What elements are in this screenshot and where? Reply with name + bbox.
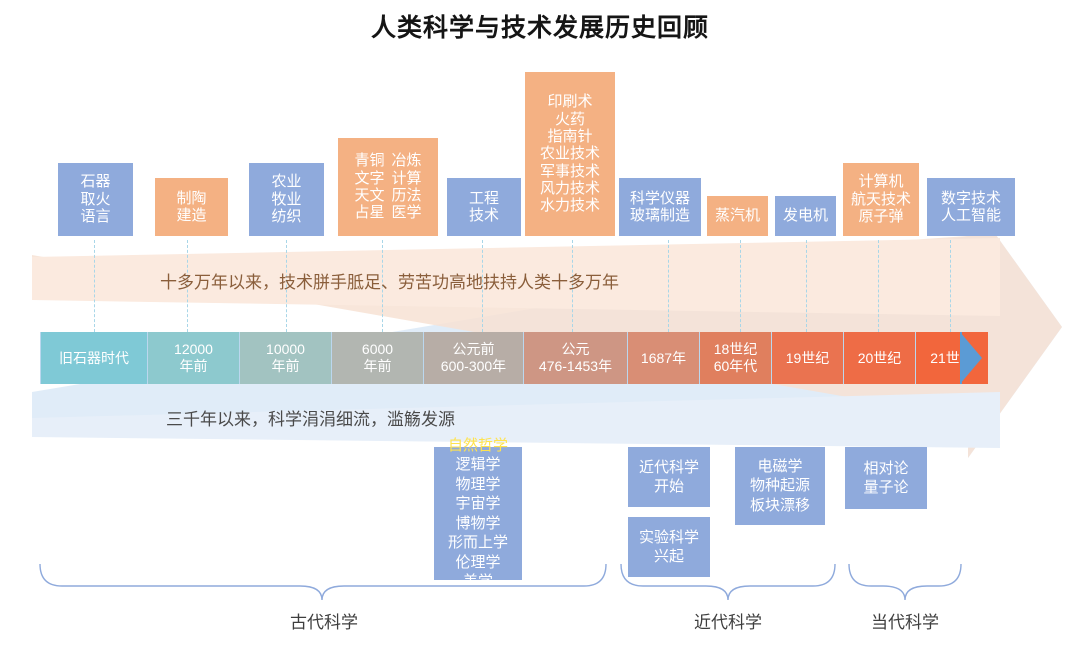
science-line: 宇宙学 (455, 494, 500, 514)
timeline-cell-line: 旧石器时代 (59, 350, 129, 367)
tech-box-generator[interactable]: 发电机 (775, 196, 836, 236)
timeline-cell-2[interactable]: 10000 年前 (240, 332, 332, 384)
timeline-cell-3[interactable]: 6000 年前 (332, 332, 424, 384)
technology-banner-text: 十多万年以来，技术胼手胝足、劳苦功高地扶持人类十多万年 (160, 268, 619, 293)
bracket-ancient-science (40, 564, 606, 600)
timeline-cell-line: 12000 (174, 341, 213, 358)
timeline-cell-9[interactable]: 20世纪 (844, 332, 916, 384)
bracket-contemporary-science (849, 564, 961, 600)
bracket-label-modern-science: 近代科学 (660, 608, 796, 633)
science-line: 实验科学 (639, 528, 699, 548)
science-line: 博物学 (455, 514, 500, 534)
diagram-canvas: 人类科学与技术发展历史回顾 石器 取火 语言 制陶 建造 农业 牧业 纺织 青铜 (0, 0, 1080, 655)
timeline-cell-line: 6000 (362, 341, 393, 358)
bracket-label-contemporary-science: 当代科学 (837, 608, 973, 633)
tech-line: 占星 (354, 204, 384, 221)
tech-box-computer-space[interactable]: 计算机 航天技术 原子弹 (843, 163, 919, 236)
tech-box-steam-engine[interactable]: 蒸汽机 (707, 196, 768, 236)
connector-dash-10 (878, 240, 879, 332)
timeline-cell-line: 20世纪 (858, 350, 902, 367)
tech-line: 数字技术 (941, 190, 1001, 207)
tech-line: 人工智能 (941, 207, 1001, 224)
tech-line: 石器 (80, 173, 110, 190)
tech-box-stone-tools[interactable]: 石器 取火 语言 (58, 163, 133, 236)
science-line: 近代科学 (639, 458, 699, 478)
tech-line: 原子弹 (858, 208, 903, 225)
timeline-cell-7[interactable]: 18世纪 60年代 (700, 332, 772, 384)
timeline-cell-line: 19世纪 (786, 350, 830, 367)
timeline-cell-0[interactable]: 旧石器时代 (40, 332, 148, 384)
bracket-modern-science (621, 564, 835, 600)
science-box-natural-philosophy[interactable]: 自然哲学 逻辑学 物理学 宇宙学 博物学 形而上学 伦理学 美学 (434, 447, 522, 580)
timeline-cell-line: 年前 (364, 358, 392, 375)
timeline-cell-5[interactable]: 公元 476-1453年 (524, 332, 628, 384)
timeline-cell-line: 476-1453年 (539, 358, 612, 375)
tech-line: 印刷术 (547, 93, 592, 110)
tech-box-pottery[interactable]: 制陶 建造 (155, 178, 228, 236)
science-line: 相对论 (863, 459, 908, 479)
tech-box-instruments[interactable]: 科学仪器 玻璃制造 (619, 178, 701, 236)
connector-dash-1 (94, 240, 95, 332)
science-line: 物理学 (455, 475, 500, 495)
connector-dash-11 (950, 240, 951, 332)
tech-line: 水力技术 (540, 197, 600, 214)
tech-line: 取火 (80, 191, 110, 208)
timeline-cell-line: 18世纪 (714, 341, 758, 358)
bracket-label-ancient-science: 古代科学 (256, 608, 392, 633)
timeline-cell-line: 10000 (266, 341, 305, 358)
science-line: 量子论 (863, 478, 908, 498)
timeline-cell-line: 年前 (272, 358, 300, 375)
timeline-cell-line: 年前 (180, 358, 208, 375)
tech-box-digital-ai[interactable]: 数字技术 人工智能 (927, 178, 1015, 236)
tech-line: 历法 (392, 187, 422, 204)
tech-line: 玻璃制造 (630, 207, 690, 224)
tech-line: 冶炼 (392, 152, 422, 169)
tech-line: 农业技术 (540, 145, 600, 162)
timeline-cell-line: 600-300年 (441, 358, 506, 375)
tech-box-agriculture[interactable]: 农业 牧业 纺织 (249, 163, 324, 236)
tech-line: 蒸汽机 (715, 207, 760, 224)
tech-line: 技术 (469, 207, 499, 224)
tech-line: 指南针 (547, 128, 592, 145)
tech-box-bronze-writing[interactable]: 青铜 文字 天文 占星 冶炼 计算 历法 医学 (338, 138, 438, 236)
tech-line: 纺织 (271, 208, 301, 225)
timeline-cell-1[interactable]: 12000 年前 (148, 332, 240, 384)
tech-line: 发电机 (783, 207, 828, 224)
tech-line: 建造 (176, 207, 206, 224)
timeline-cell-line: 1687年 (641, 350, 686, 367)
tech-line: 工程 (469, 190, 499, 207)
tech-line: 火药 (555, 111, 585, 128)
science-line-highlight: 自然哲学 (448, 436, 508, 456)
tech-column-right: 冶炼 计算 历法 医学 (392, 152, 422, 222)
science-line: 物种起源 (750, 476, 810, 496)
connector-dash-8 (740, 240, 741, 332)
tech-line: 科学仪器 (630, 190, 690, 207)
tech-line: 天文 (354, 187, 384, 204)
timeline-cell-8[interactable]: 19世纪 (772, 332, 844, 384)
tech-box-engineering[interactable]: 工程 技术 (447, 178, 521, 236)
tech-line: 语言 (80, 208, 110, 225)
tech-line: 军事技术 (540, 163, 600, 180)
science-box-modern-science-begins[interactable]: 近代科学 开始 (628, 447, 710, 507)
timeline-bar: 旧石器时代 12000 年前 10000 年前 6000 年前 公元前 600-… (40, 332, 988, 384)
science-box-relativity-quantum[interactable]: 相对论 量子论 (845, 447, 927, 509)
connector-dash-7 (668, 240, 669, 332)
science-line: 板块漂移 (750, 496, 810, 516)
science-line: 开始 (654, 477, 684, 497)
science-line: 逻辑学 (455, 455, 500, 475)
tech-line: 牧业 (271, 191, 301, 208)
timeline-cell-line: 公元前 (453, 341, 495, 358)
science-line: 形而上学 (448, 533, 508, 553)
bracket-group (0, 562, 1080, 612)
tech-line: 文字 (354, 170, 384, 187)
tech-line: 农业 (271, 173, 301, 190)
science-banner-text: 三千年以来，科学涓涓细流，滥觞发源 (166, 405, 455, 430)
connector-dash-9 (806, 240, 807, 332)
tech-box-four-inventions[interactable]: 印刷术 火药 指南针 农业技术 军事技术 风力技术 水力技术 (525, 72, 615, 236)
tech-line: 计算机 (858, 173, 903, 190)
tech-line: 制陶 (176, 190, 206, 207)
tech-line: 航天技术 (851, 191, 911, 208)
science-line: 电磁学 (757, 457, 802, 477)
timeline-cell-line: 公元 (562, 341, 590, 358)
tech-line: 风力技术 (540, 180, 600, 197)
tech-line: 医学 (392, 204, 422, 221)
timeline-cell-4[interactable]: 公元前 600-300年 (424, 332, 524, 384)
timeline-cell-line: 60年代 (714, 358, 758, 375)
science-box-electromagnetism[interactable]: 电磁学 物种起源 板块漂移 (735, 447, 825, 525)
tech-line: 青铜 (354, 152, 384, 169)
tech-column-left: 青铜 文字 天文 占星 (354, 152, 384, 222)
timeline-arrow-head-icon (960, 332, 1006, 384)
timeline-cell-6[interactable]: 1687年 (628, 332, 700, 384)
tech-line: 计算 (392, 170, 422, 187)
